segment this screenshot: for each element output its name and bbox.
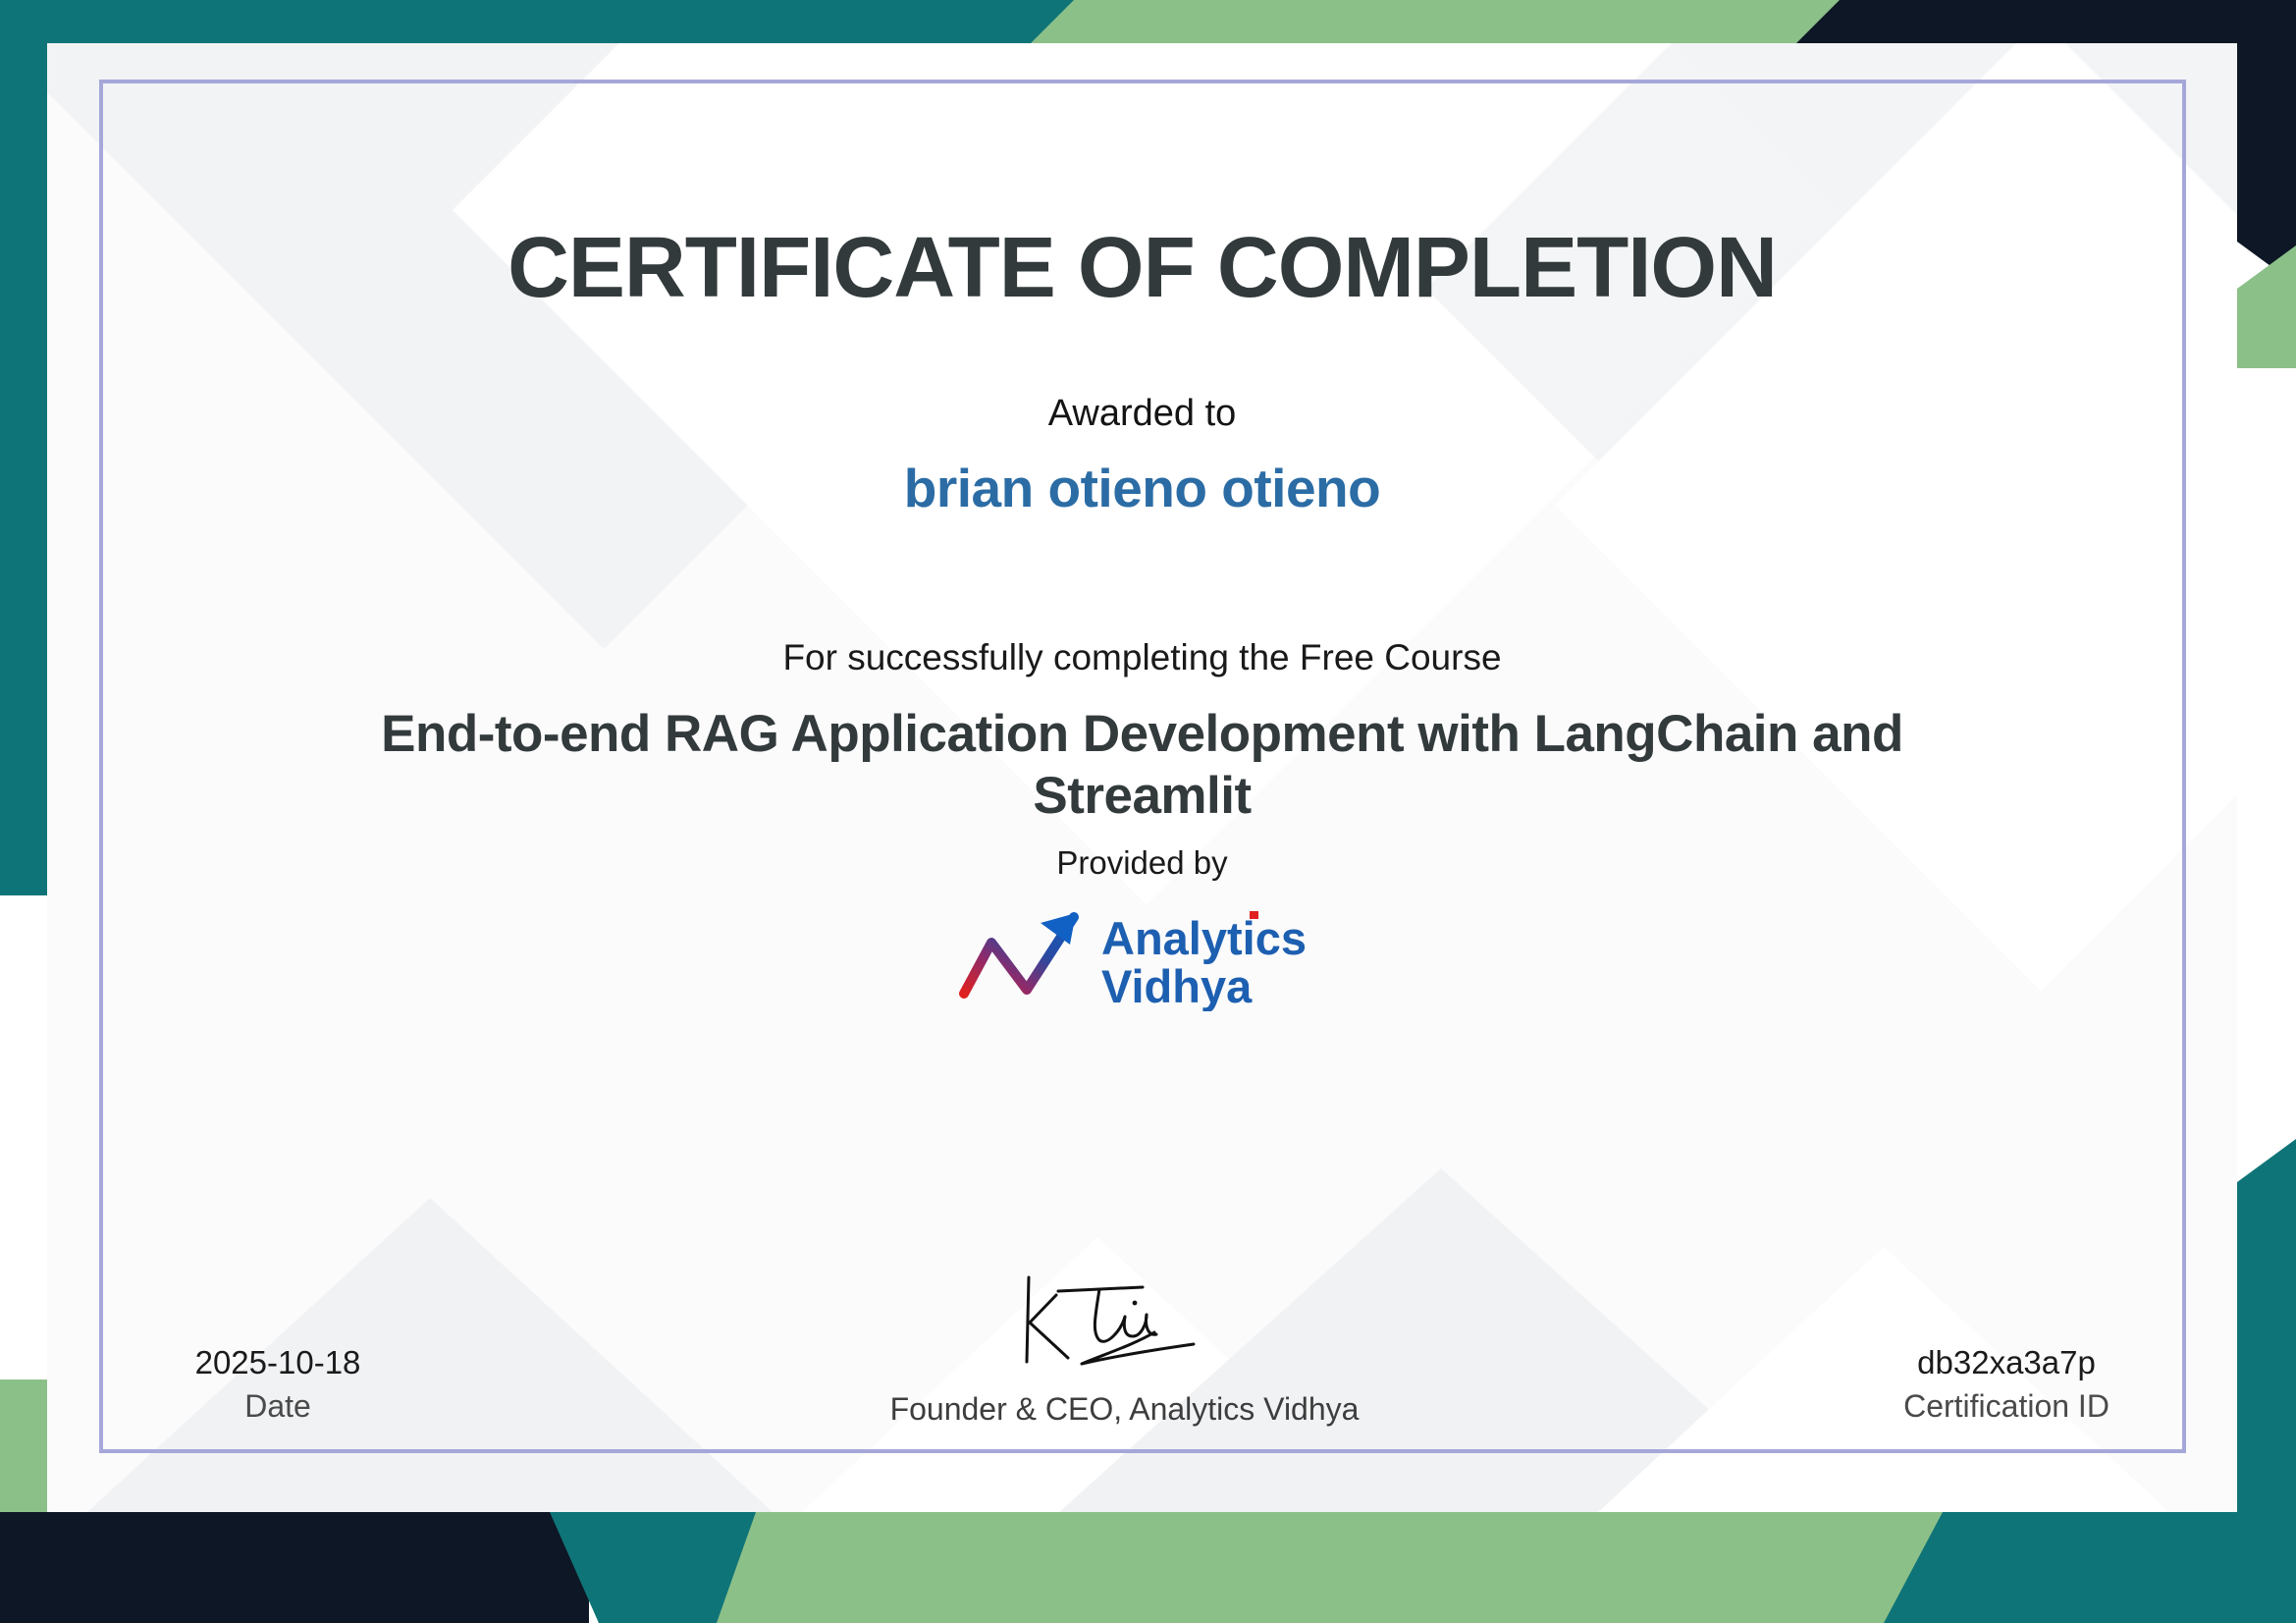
course-title: End-to-end RAG Application Development w… (279, 704, 2006, 827)
certification-id-value: db32xa3a7p (1917, 1341, 2096, 1385)
certificate-footer: 2025-10-18 Date (150, 1268, 2134, 1428)
top-band-teal (0, 0, 1099, 43)
logo-text-line1: Analytics (1101, 912, 1307, 964)
certification-id-caption: Certification ID (1903, 1385, 2109, 1428)
bottom-band-green (717, 1512, 2110, 1623)
top-band-green (1031, 0, 1875, 43)
analytics-vidhya-logo-icon: Analytics Vidhya (956, 903, 1329, 1011)
completion-statement: For successfully completing the Free Cou… (782, 637, 1501, 678)
right-band-green (2237, 245, 2296, 368)
certificate-page: CERTIFICATE OF COMPLETION Awarded to bri… (0, 0, 2296, 1623)
signature-caption: Founder & CEO, Analytics Vidhya (890, 1391, 1360, 1428)
date-value: 2025-10-18 (195, 1341, 361, 1385)
left-band-green (0, 1380, 47, 1512)
signature-block: Founder & CEO, Analytics Vidhya (890, 1268, 1360, 1428)
logo-text-line2: Vidhya (1101, 960, 1253, 1011)
date-caption: Date (244, 1385, 311, 1428)
signature-icon (997, 1268, 1253, 1385)
right-band-teal (2237, 1139, 2296, 1623)
provider-logo: Analytics Vidhya (956, 903, 1329, 1011)
certificate-paper: CERTIFICATE OF COMPLETION Awarded to bri… (47, 43, 2237, 1512)
date-block: 2025-10-18 Date (150, 1341, 405, 1428)
recipient-name: brian otieno otieno (904, 457, 1380, 519)
awarded-to-label: Awarded to (1048, 393, 1237, 435)
bottom-band-teal-right (1884, 1512, 2296, 1623)
left-band-teal (0, 0, 47, 895)
top-band-navy (1796, 0, 2296, 43)
right-band-navy (2237, 0, 2296, 285)
provided-by-label: Provided by (1056, 844, 1227, 882)
certification-id-block: db32xa3a7p Certification ID (1879, 1341, 2134, 1428)
bottom-band-navy (0, 1512, 589, 1623)
bottom-band-teal-wedge (550, 1512, 766, 1623)
certificate-title: CERTIFICATE OF COMPLETION (507, 225, 1777, 310)
